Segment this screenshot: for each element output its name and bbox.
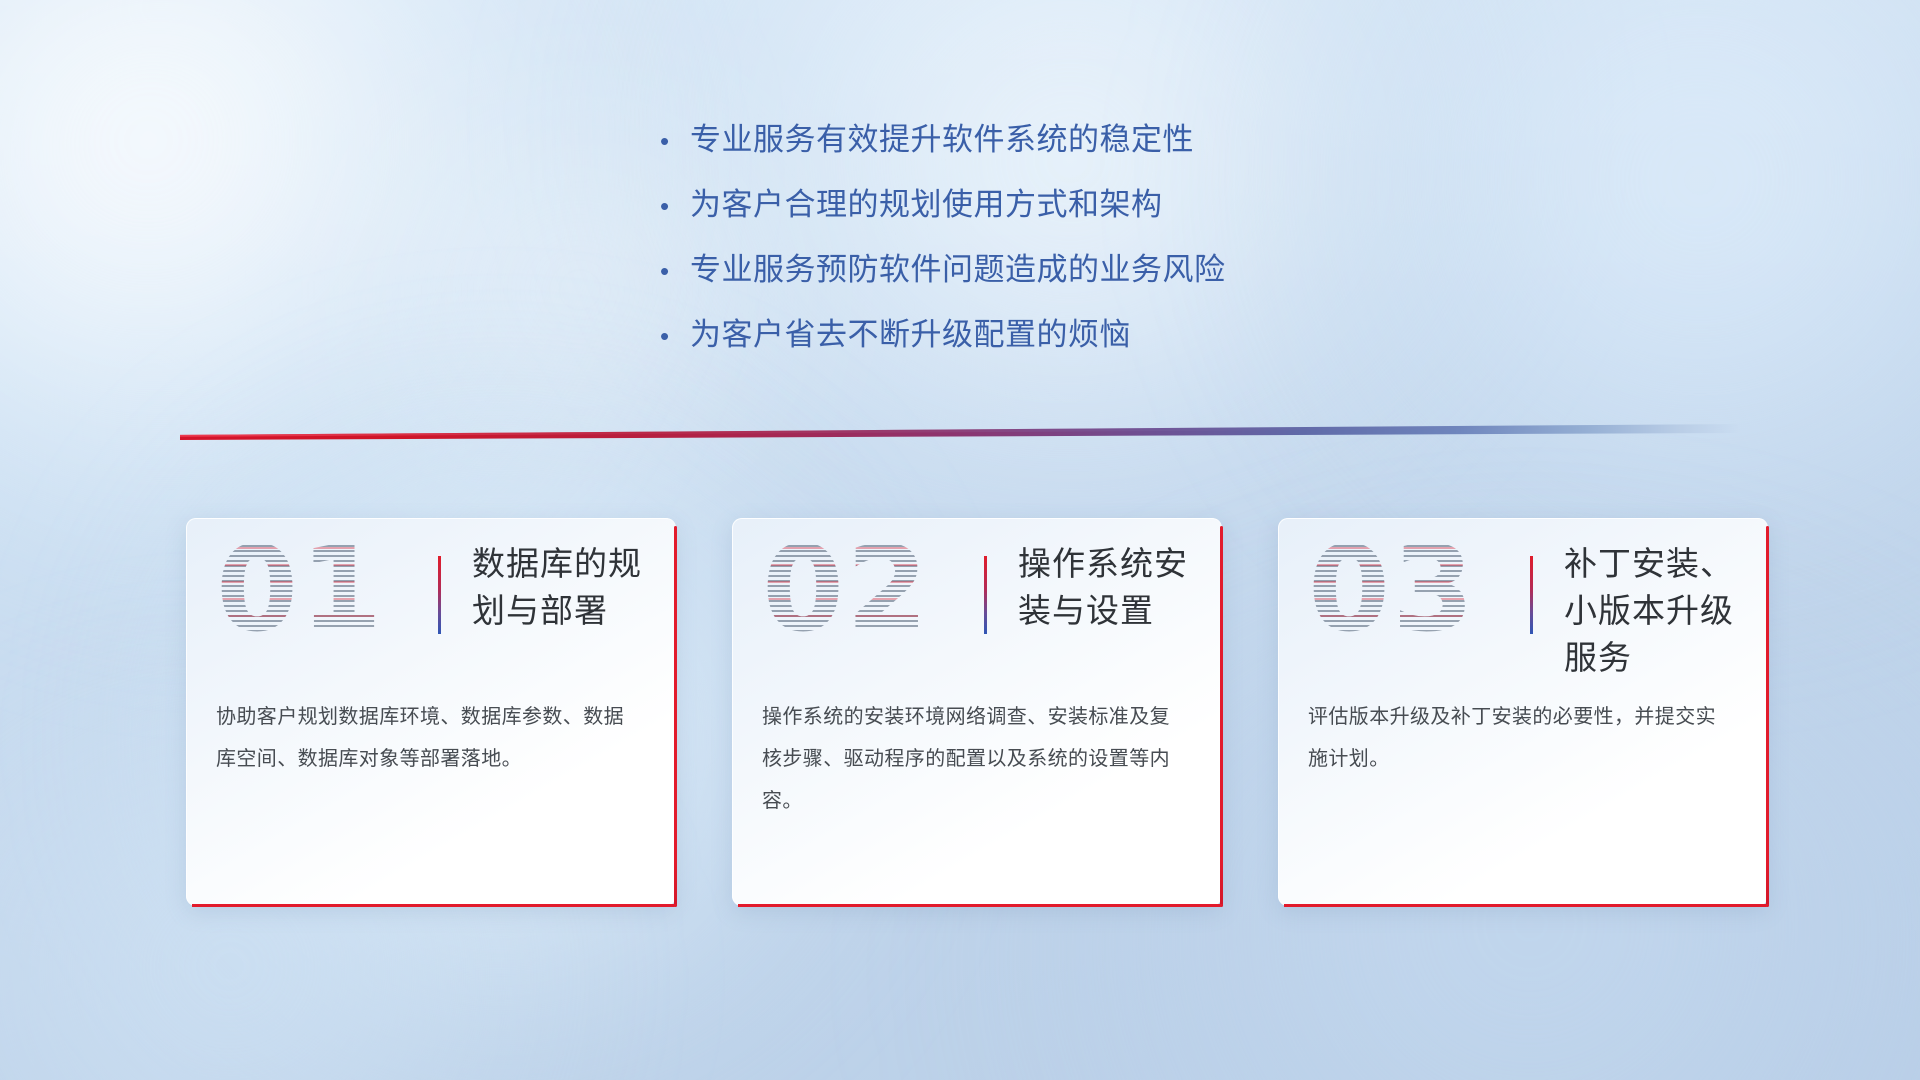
card-title: 操作系统安装与设置 xyxy=(1018,540,1204,634)
section-divider xyxy=(180,424,1740,440)
bullet-text: 专业服务有效提升软件系统的稳定性 xyxy=(690,108,1194,172)
card-row: 01 01 数据库的规划与部署 协助客户规划数据库环境、数据库参数、数据库空间、… xyxy=(186,518,1768,906)
card-bottom-accent-line xyxy=(192,904,677,907)
card-title: 补丁安装、小版本升级服务 xyxy=(1564,540,1750,681)
card-header: 03 03 补丁安装、小版本升级服务 xyxy=(1278,518,1768,670)
bullet-dot-icon: • xyxy=(660,304,690,368)
bullet-dot-icon: • xyxy=(660,174,690,238)
card-number-watermark-tint: 01 xyxy=(216,530,384,648)
card-header: 02 02 操作系统安装与设置 xyxy=(732,518,1222,670)
card-02[interactable]: 02 02 操作系统安装与设置 操作系统的安装环境网络调查、安装标准及复核步骤、… xyxy=(732,518,1222,906)
list-item: • 专业服务有效提升软件系统的稳定性 xyxy=(660,108,1420,173)
card-body-text: 协助客户规划数据库环境、数据库参数、数据库空间、数据库对象等部署落地。 xyxy=(216,696,642,780)
list-item: • 为客户合理的规划使用方式和架构 xyxy=(660,173,1420,238)
card-body-text: 操作系统的安装环境网络调查、安装标准及复核步骤、驱动程序的配置以及系统的设置等内… xyxy=(762,696,1188,822)
bullet-text: 为客户合理的规划使用方式和架构 xyxy=(690,173,1163,237)
card-title-divider xyxy=(984,556,987,634)
card-number-watermark-tint: 02 xyxy=(762,530,930,648)
bullet-dot-icon: • xyxy=(660,109,690,173)
list-item: • 专业服务预防软件问题造成的业务风险 xyxy=(660,238,1420,303)
card-number-watermark-tint: 03 xyxy=(1308,530,1476,648)
card-title-divider xyxy=(1530,556,1533,634)
card-bottom-accent-line xyxy=(738,904,1223,907)
card-title: 数据库的规划与部署 xyxy=(472,540,658,634)
bullet-text: 专业服务预防软件问题造成的业务风险 xyxy=(690,238,1226,302)
card-body-text: 评估版本升级及补丁安装的必要性，并提交实施计划。 xyxy=(1308,696,1734,780)
bullet-text: 为客户省去不断升级配置的烦恼 xyxy=(690,303,1131,367)
list-item: • 为客户省去不断升级配置的烦恼 xyxy=(660,303,1420,368)
card-title-divider xyxy=(438,556,441,634)
card-bottom-accent-line xyxy=(1284,904,1769,907)
card-01[interactable]: 01 01 数据库的规划与部署 协助客户规划数据库环境、数据库参数、数据库空间、… xyxy=(186,518,676,906)
bullet-dot-icon: • xyxy=(660,239,690,303)
card-header: 01 01 数据库的规划与部署 xyxy=(186,518,676,670)
card-03[interactable]: 03 03 补丁安装、小版本升级服务 评估版本升级及补丁安装的必要性，并提交实施… xyxy=(1278,518,1768,906)
bullet-list: • 专业服务有效提升软件系统的稳定性 • 为客户合理的规划使用方式和架构 • 专… xyxy=(660,108,1420,368)
